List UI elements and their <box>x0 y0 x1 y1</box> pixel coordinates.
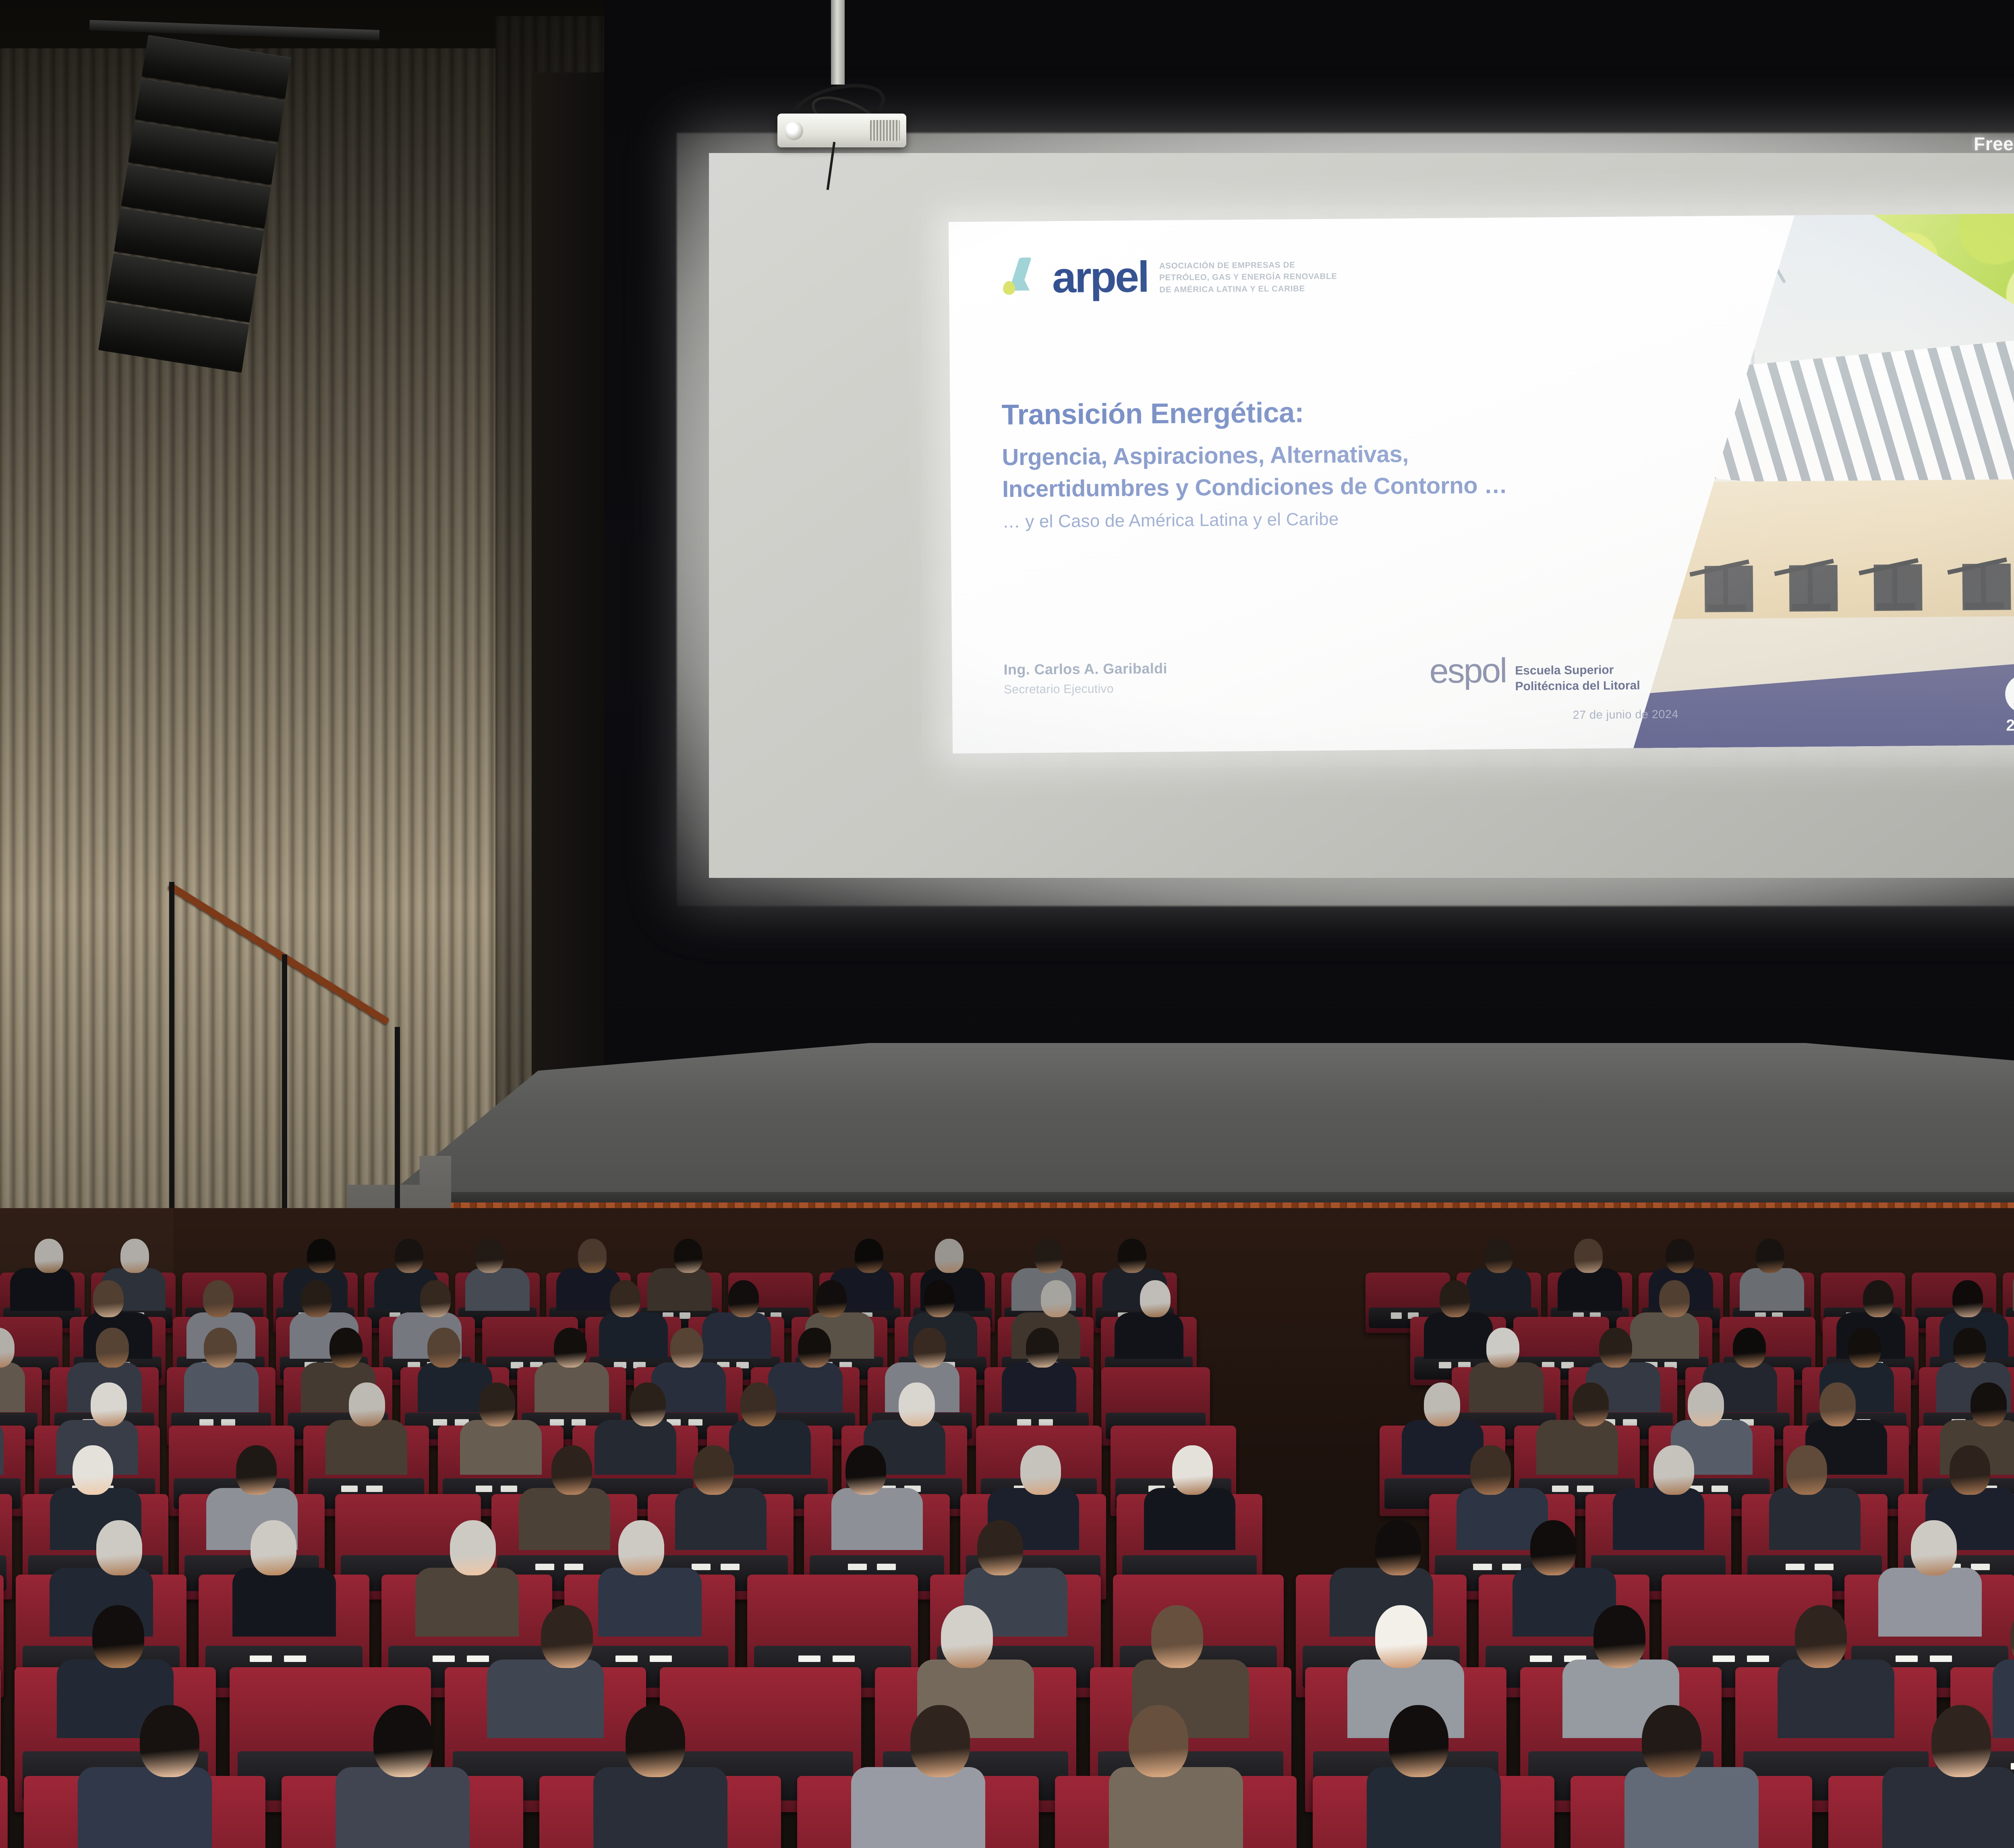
audience-member-head <box>93 1280 124 1317</box>
audience-area <box>0 1208 2014 1848</box>
audience-member-head <box>1642 1705 1701 1777</box>
audience-member-head <box>1424 1382 1460 1426</box>
audience-member-head <box>1041 1280 1071 1317</box>
slide-subtitle-line1: Urgencia, Aspiraciones, Alternativas, <box>1002 438 1538 474</box>
audience-member-head <box>1573 1382 1609 1426</box>
audience-member-head <box>1034 1239 1063 1273</box>
ceiling-projector <box>777 114 906 147</box>
slide-date: 27 de junio de 2024 <box>1573 708 1678 722</box>
arpel-year-badge: 2024 <box>2005 675 2014 735</box>
audience-member-head <box>1911 1520 1957 1575</box>
arpel-logo-icon <box>1001 256 1044 300</box>
audience-member-body <box>336 1767 470 1848</box>
audience-member-head <box>1440 1280 1470 1317</box>
audience-member-body <box>78 1767 212 1848</box>
espol-name-line1: Escuela Superior <box>1515 662 1640 679</box>
audience-member-head <box>630 1382 666 1426</box>
audience-member-head <box>120 1239 149 1273</box>
arpel-mark-icon <box>2005 675 2014 714</box>
audience-member-head <box>1484 1239 1513 1273</box>
audience-member-head <box>1172 1445 1213 1495</box>
wind-turbine-tower-icon <box>1751 268 1755 368</box>
audience-member-head <box>1530 1520 1576 1575</box>
audience-member-head <box>541 1605 593 1668</box>
audience-member-head <box>845 1445 886 1495</box>
audience-member-head <box>578 1239 607 1273</box>
audience-member-head <box>1375 1520 1421 1575</box>
projector-freeze-status: Freeze <box>1974 133 2014 155</box>
arpel-tagline-line2: PETRÓLEO, GAS Y ENERGÍA RENOVABLE <box>1159 271 1337 284</box>
audience-member-head <box>1733 1328 1766 1368</box>
projector-mount-rod <box>831 0 845 85</box>
audience-member-head <box>977 1520 1023 1575</box>
audience-member-head <box>670 1328 703 1368</box>
audience-member-head <box>913 1328 946 1368</box>
audience-member-head <box>740 1382 777 1426</box>
audience-member-body <box>1882 1767 2014 1848</box>
slide-subtitle-line2: Incertidumbres y Condiciones de Contorno… <box>1002 470 1538 505</box>
audience-member-head <box>1666 1239 1694 1273</box>
audience-member-head <box>1819 1382 1856 1426</box>
espol-name-line2: Politécnica del Litoral <box>1515 678 1640 694</box>
audience-member-head <box>693 1445 734 1495</box>
audience-member-head <box>551 1445 592 1495</box>
audience-member-head <box>1574 1239 1603 1273</box>
audience-member-head <box>1688 1382 1724 1426</box>
rail-post <box>282 954 287 1236</box>
arpel-tagline-line1: ASOCIACIÓN DE EMPRESAS DE <box>1159 259 1337 272</box>
espol-name: Escuela Superior Politécnica del Litoral <box>1515 662 1640 694</box>
audience-member-head <box>0 1328 15 1368</box>
wind-turbine-blade-icon <box>1738 254 1769 258</box>
audience-member-body <box>1109 1767 1243 1848</box>
presentation-slide: 2024 arpel ASOCIACIÓN DE EMPRESAS DE PET… <box>949 213 2014 753</box>
seat-row <box>0 1728 2014 1848</box>
audience-member-head <box>1599 1328 1632 1368</box>
arpel-tagline: ASOCIACIÓN DE EMPRESAS DE PETRÓLEO, GAS … <box>1159 259 1337 296</box>
oil-pumpjack-icon <box>1705 565 1753 612</box>
oil-pumpjack-icon <box>1789 565 1838 612</box>
audience-member-head <box>798 1328 831 1368</box>
oil-pumpjack-icon <box>1962 563 2011 610</box>
audience-member-body <box>1993 1660 2014 1738</box>
audience-member-head <box>1952 1280 1983 1317</box>
audience-member-head <box>373 1705 433 1777</box>
audience-member-head <box>855 1239 883 1273</box>
audience-member-head <box>1786 1445 1827 1495</box>
audience-member-head <box>1756 1239 1784 1273</box>
audience-member-head <box>395 1239 423 1273</box>
audience-member-head <box>1950 1445 1990 1495</box>
badge-year-label: 2024 <box>2006 716 2014 735</box>
audience-member-head <box>1151 1605 1203 1668</box>
audience-member-head <box>1020 1445 1061 1495</box>
audience-member-body <box>487 1660 604 1738</box>
audience-member-head <box>1129 1705 1188 1777</box>
auditorium-seat <box>0 1776 8 1848</box>
audience-member-head <box>420 1280 451 1317</box>
audience-member-body <box>1778 1660 1894 1738</box>
stage-floor <box>363 1043 2014 1216</box>
audience-member-head <box>1118 1239 1146 1273</box>
audience-member-head <box>1593 1605 1645 1668</box>
audience-member-body <box>1624 1767 1759 1848</box>
audience-member-head <box>941 1605 993 1668</box>
audience-member-head <box>935 1239 963 1273</box>
audience-member-head <box>554 1328 587 1368</box>
audience-member-head <box>610 1280 640 1317</box>
audience-member-head <box>1931 1705 1991 1777</box>
oil-pumpjack-icon <box>1874 564 1923 611</box>
audience-member-head <box>899 1382 935 1426</box>
audience-member-head <box>816 1280 847 1317</box>
audience-member-head <box>1659 1280 1690 1317</box>
audience-member-head <box>475 1239 503 1273</box>
audience-member-head <box>618 1520 664 1575</box>
audience-member-head <box>626 1705 685 1777</box>
audience-member-head <box>1486 1328 1519 1368</box>
audience-member-head <box>479 1382 515 1426</box>
audience-member-head <box>301 1280 332 1317</box>
rail-post <box>169 882 174 1212</box>
auditorium-photo-scene: 2024 arpel ASOCIACIÓN DE EMPRESAS DE PET… <box>0 0 2014 1848</box>
audience-member-head <box>1953 1328 1986 1368</box>
audience-member-head <box>236 1445 277 1495</box>
audience-member-head <box>307 1239 336 1273</box>
audience-member-head <box>96 1520 142 1575</box>
arpel-wordmark: arpel <box>1052 257 1148 297</box>
audience-member-head <box>92 1605 144 1668</box>
audience-member-head <box>1970 1382 2007 1426</box>
slide-subtitle-line3: … y el Caso de América Latina y el Carib… <box>1003 507 1538 532</box>
arpel-tagline-line3: DE AMÉRICA LATINA Y EL CARIBE <box>1159 282 1337 296</box>
audience-member-head <box>349 1382 385 1426</box>
author-name: Ing. Carlos A. Garibaldi <box>1003 660 1167 678</box>
espol-logo: espol Escuela Superior Politécnica del L… <box>1429 654 1640 695</box>
audience-member-head <box>910 1705 970 1777</box>
slide-title: Transición Energética: <box>1001 395 1537 431</box>
audience-member-head <box>140 1705 199 1777</box>
projector-vent <box>870 120 900 141</box>
audience-member-body <box>851 1767 985 1848</box>
projector-lens-icon <box>785 122 803 140</box>
arpel-logo: arpel ASOCIACIÓN DE EMPRESAS DE PETRÓLEO… <box>1001 254 1337 300</box>
audience-member-head <box>1026 1328 1059 1368</box>
audience-member-head <box>1470 1445 1511 1495</box>
audience-member-head <box>1140 1280 1171 1317</box>
audience-member-head <box>1375 1605 1427 1668</box>
audience-member-body <box>1367 1767 1501 1848</box>
audience-member-head <box>251 1520 296 1575</box>
slide-author-block: Ing. Carlos A. Garibaldi Secretario Ejec… <box>1003 660 1167 697</box>
author-role: Secretario Ejecutivo <box>1004 682 1168 697</box>
audience-member-head <box>203 1280 234 1317</box>
audience-member-head <box>1795 1605 1847 1668</box>
audience-member-head <box>450 1520 496 1575</box>
audience-member-head <box>1848 1328 1881 1368</box>
slide-title-block: Transición Energética: Urgencia, Aspirac… <box>1001 395 1538 532</box>
audience-member-head <box>1653 1445 1694 1495</box>
audience-member-head <box>73 1445 113 1495</box>
audience-member-head <box>91 1382 127 1426</box>
audience-member-head <box>728 1280 759 1317</box>
audience-member-head <box>427 1328 460 1368</box>
wind-turbine-blade-icon <box>1767 228 1786 257</box>
audience-member-head <box>96 1328 129 1368</box>
oil-field-image <box>1656 478 2014 619</box>
audience-member-head <box>35 1239 63 1273</box>
audience-member-body <box>593 1767 727 1848</box>
audience-member-head <box>204 1328 237 1368</box>
audience-member-head <box>329 1328 363 1368</box>
audience-member-head <box>1389 1705 1448 1777</box>
audience-member-head <box>674 1239 702 1273</box>
espol-wordmark: espol <box>1429 655 1506 687</box>
audience-member-head <box>924 1280 955 1317</box>
audience-member-head <box>1863 1280 1894 1317</box>
slide-artwork-panel: 2024 <box>1629 213 2014 748</box>
